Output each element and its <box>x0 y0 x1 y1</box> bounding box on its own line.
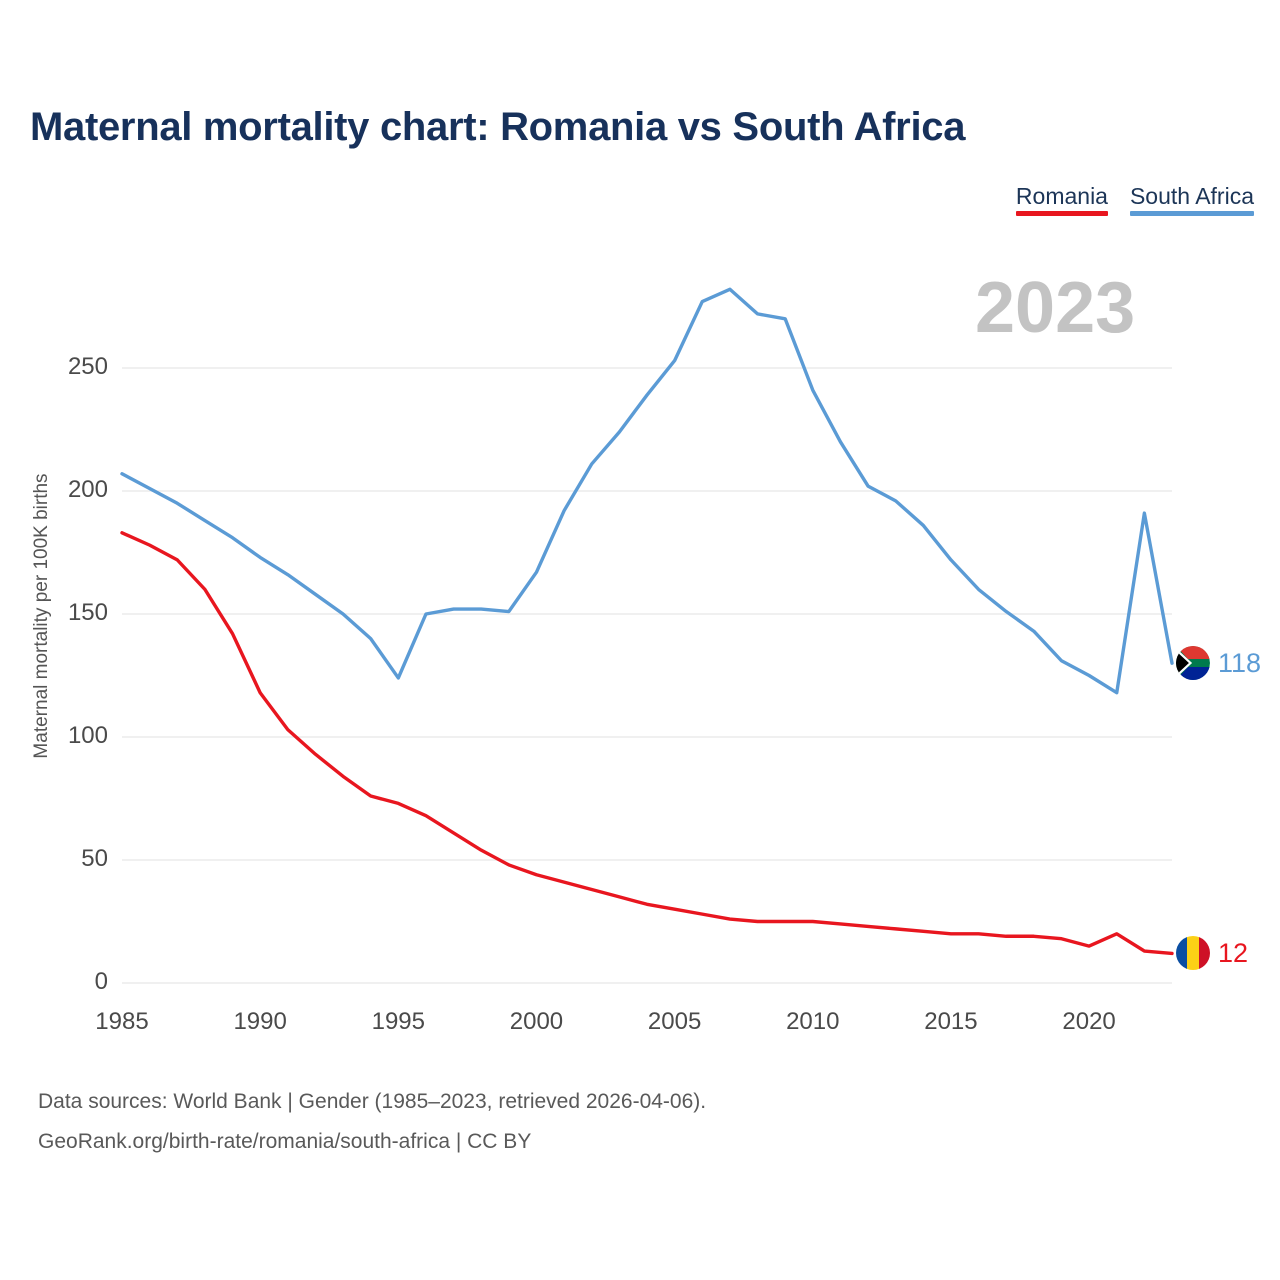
romania-flag-icon <box>1176 936 1210 970</box>
south-africa-flag-icon <box>1176 646 1210 680</box>
x-tick-label: 2000 <box>491 1008 581 1036</box>
footer-line-1: Data sources: World Bank | Gender (1985–… <box>38 1082 706 1122</box>
end-marker-romania[interactable]: 12 <box>1176 936 1248 970</box>
y-tick-label: 100 <box>38 722 108 750</box>
series-line-romania <box>122 533 1172 954</box>
y-tick-label: 0 <box>38 968 108 996</box>
y-tick-label: 150 <box>38 599 108 627</box>
footer-sources: Data sources: World Bank | Gender (1985–… <box>38 1082 706 1162</box>
end-marker-south-africa[interactable]: 118 <box>1176 646 1261 680</box>
y-tick-label: 50 <box>38 845 108 873</box>
x-tick-label: 1985 <box>77 1008 167 1036</box>
end-value-south-africa: 118 <box>1218 650 1261 677</box>
x-tick-label: 1990 <box>215 1008 305 1036</box>
end-value-romania: 12 <box>1218 940 1248 967</box>
series-lines <box>122 289 1172 953</box>
footer-line-2: GeoRank.org/birth-rate/romania/south-afr… <box>38 1122 706 1162</box>
x-tick-label: 2020 <box>1044 1008 1134 1036</box>
x-tick-label: 2010 <box>768 1008 858 1036</box>
gridlines <box>122 368 1172 983</box>
year-watermark: 2023 <box>975 272 1135 344</box>
x-tick-label: 2015 <box>906 1008 996 1036</box>
y-tick-label: 200 <box>38 476 108 504</box>
x-tick-label: 2005 <box>630 1008 720 1036</box>
x-tick-label: 1995 <box>353 1008 443 1036</box>
y-tick-label: 250 <box>38 353 108 381</box>
